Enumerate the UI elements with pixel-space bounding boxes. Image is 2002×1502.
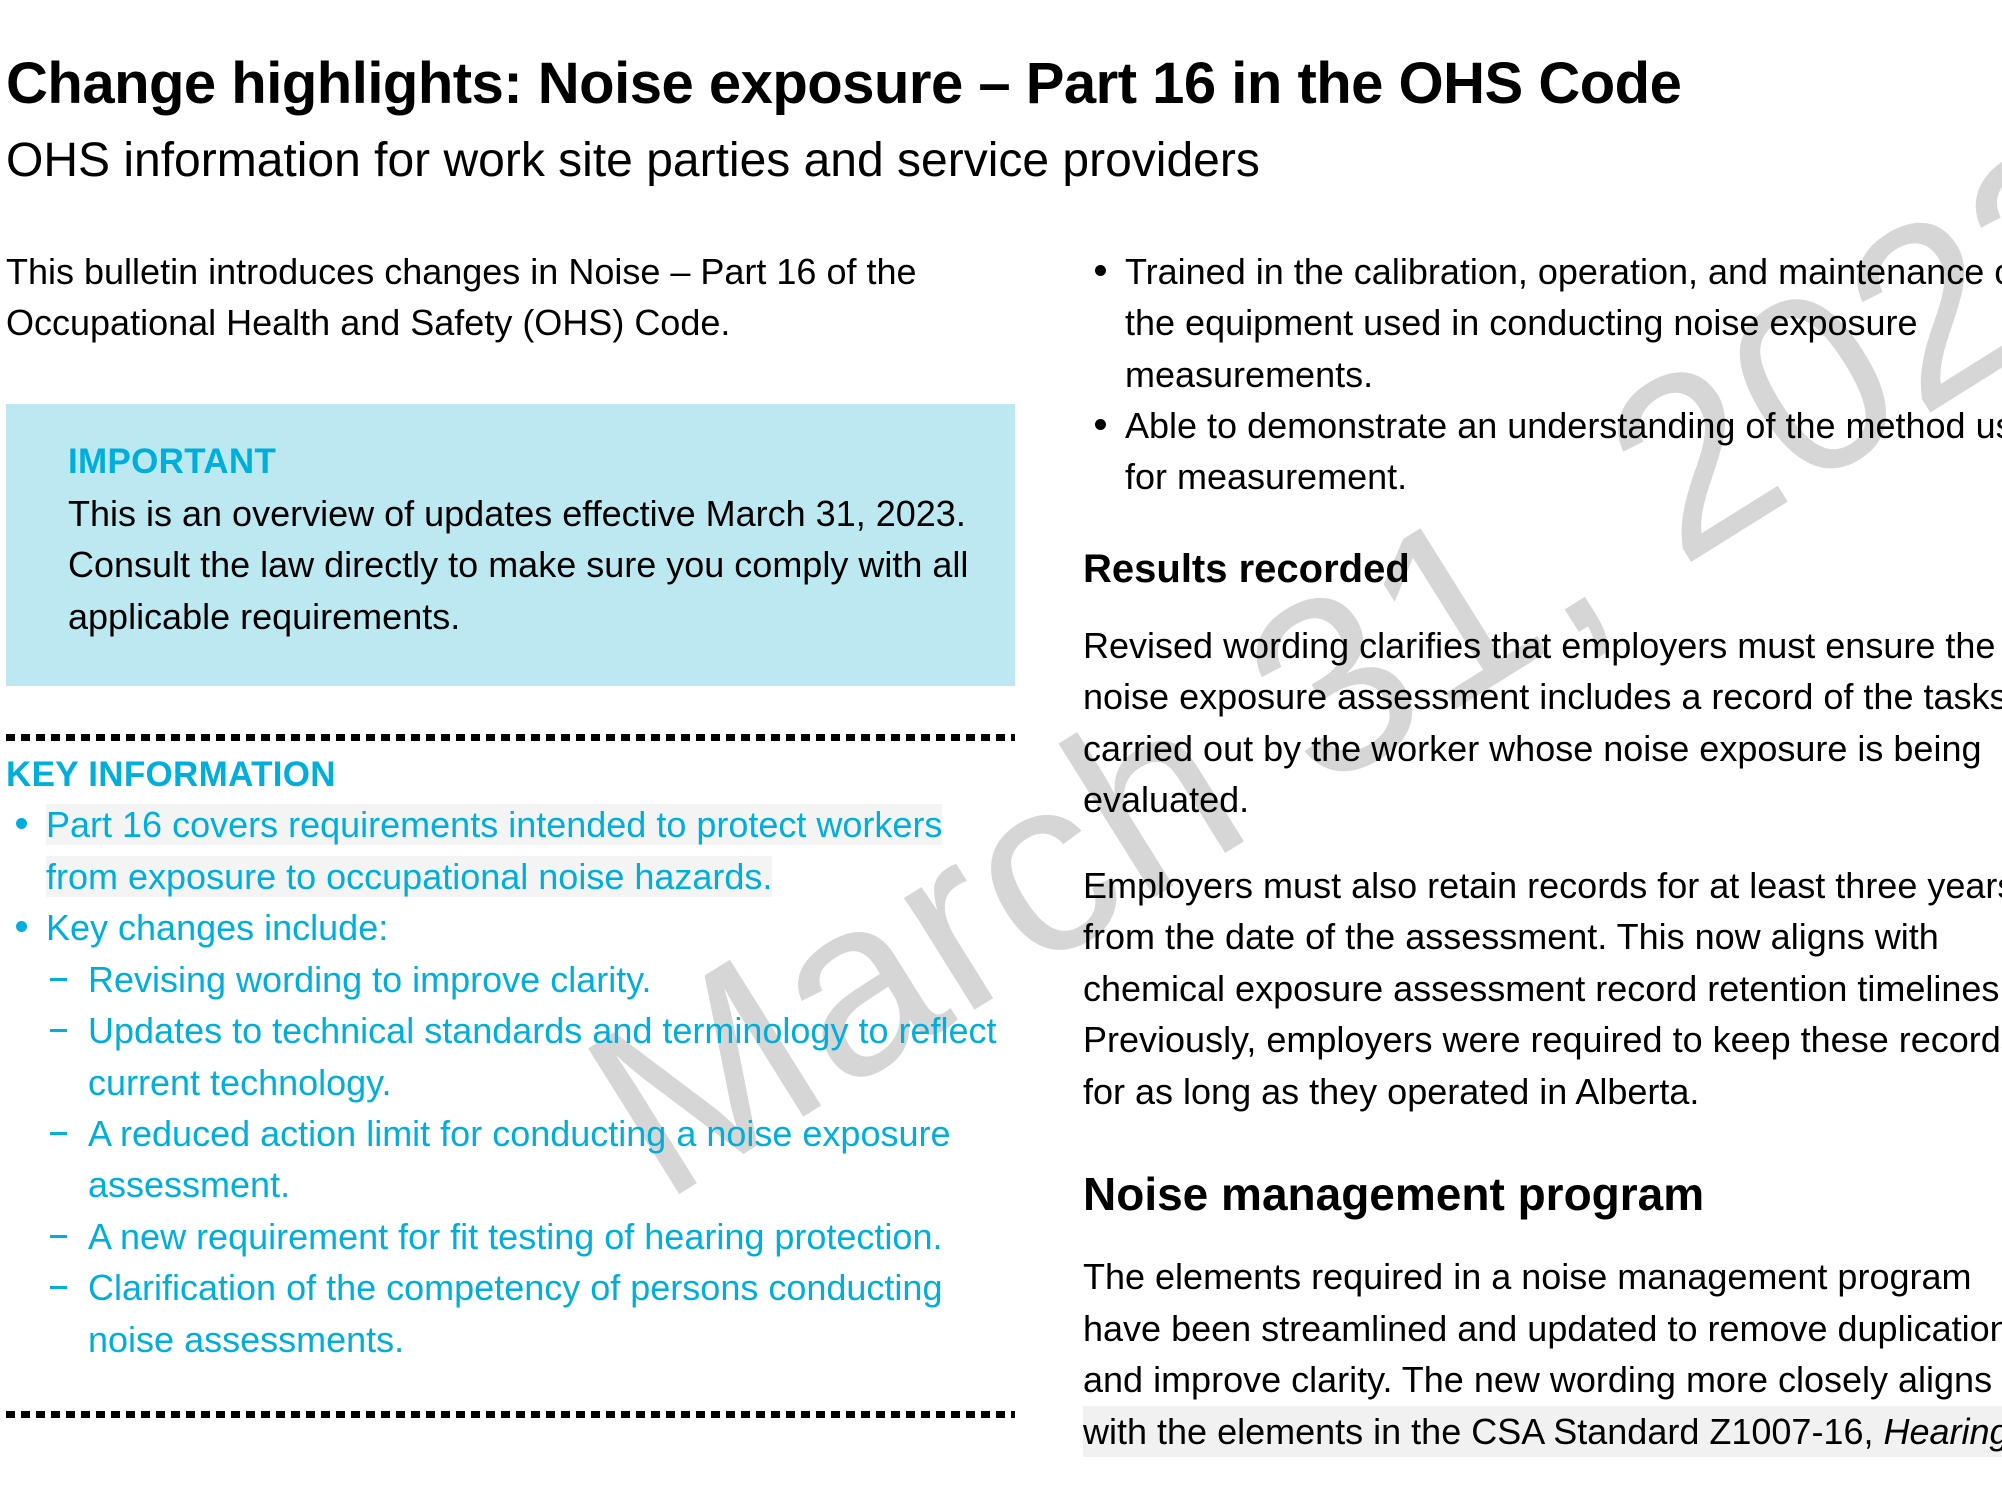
list-item-label: A new requirement for fit testing of hea…	[88, 1216, 942, 1257]
section-heading-noise-management-program: Noise management program	[1083, 1167, 2002, 1221]
paragraph-line: from the date of the assessment. This no…	[1083, 911, 2002, 962]
competency-bullet-list: Trained in the calibration, operation, a…	[1083, 246, 2002, 503]
paragraph-line: evaluated.	[1083, 774, 2002, 825]
list-item-label: Updates to technical standards and termi…	[88, 1010, 997, 1102]
list-item: A new requirement for fit testing of hea…	[6, 1211, 1006, 1262]
dotted-divider-top	[6, 734, 1015, 741]
important-body-text: This is an overview of updates effective…	[68, 488, 969, 642]
dash-bullet-icon	[50, 1286, 67, 1289]
list-item-label: A reduced action limit for conducting a …	[88, 1113, 951, 1205]
list-item: Key changes include:	[6, 902, 1006, 953]
list-item-label: Clarification of the competency of perso…	[88, 1267, 942, 1359]
key-changes-sublist: Revising wording to improve clarity. Upd…	[6, 954, 1006, 1366]
right-column: Trained in the calibration, operation, a…	[1083, 246, 2002, 1491]
paragraph: Revised wording clarifies that employers…	[1083, 620, 2002, 826]
paragraph-line: noise exposure assessment includes a rec…	[1083, 671, 2002, 722]
key-information-list: Part 16 covers requirements intended to …	[6, 799, 1006, 1365]
bullet-dot-icon	[1095, 265, 1106, 276]
document-page: Change highlights: Noise exposure – Part…	[0, 0, 2002, 1502]
paragraph-line: for as long as they operated in Alberta.	[1083, 1066, 2002, 1117]
list-item: Updates to technical standards and termi…	[6, 1005, 1006, 1108]
paragraph-line: have been streamlined and updated to rem…	[1083, 1303, 2002, 1354]
list-item-label: Revising wording to improve clarity.	[88, 959, 652, 1000]
bullet-dot-icon	[1095, 419, 1106, 430]
document-header: Change highlights: Noise exposure – Part…	[0, 0, 2002, 190]
list-item-line: for measurement.	[1125, 451, 2002, 502]
page-title: Change highlights: Noise exposure – Part…	[6, 52, 2002, 117]
list-item-line: Able to demonstrate an understanding of …	[1125, 400, 2002, 451]
dash-bullet-icon	[50, 1029, 67, 1032]
bullet-dot-icon	[16, 818, 27, 829]
list-item: Clarification of the competency of perso…	[6, 1262, 1006, 1365]
list-item: Able to demonstrate an understanding of …	[1083, 400, 2002, 503]
list-item-label: Key changes include:	[46, 907, 388, 948]
important-callout-box: IMPORTANT This is an overview of updates…	[6, 404, 1015, 686]
paragraph-line: Employers must also retain records for a…	[1083, 860, 2002, 911]
page-subtitle: OHS information for work site parties an…	[6, 133, 2002, 190]
paragraph-line: and improve clarity. The new wording mor…	[1083, 1354, 2002, 1405]
paragraph-line: carried out by the worker whose noise ex…	[1083, 723, 2002, 774]
list-item: Trained in the calibration, operation, a…	[1083, 246, 2002, 400]
paragraph-line: The elements required in a noise managem…	[1083, 1251, 2002, 1302]
list-item-label: Part 16 covers requirements intended to …	[46, 804, 942, 896]
dash-bullet-icon	[50, 1132, 67, 1135]
left-column: This bulletin introduces changes in Nois…	[6, 246, 1006, 1419]
bullet-dot-icon	[16, 921, 27, 932]
body-columns: This bulletin introduces changes in Nois…	[0, 246, 2002, 1486]
paragraph: Employers must also retain records for a…	[1083, 860, 2002, 1117]
list-item-line: the equipment used in conducting noise e…	[1125, 297, 2002, 348]
paragraph-line: Previously, employers were required to k…	[1083, 1014, 2002, 1065]
paragraph-line: Revised wording clarifies that employers…	[1083, 620, 2002, 671]
intro-paragraph: This bulletin introduces changes in Nois…	[6, 246, 966, 348]
section-heading-results-recorded: Results recorded	[1083, 547, 2002, 592]
paragraph-text: with the elements in the CSA Standard Z1…	[1083, 1411, 1883, 1452]
dash-bullet-icon	[50, 978, 67, 981]
list-item: Revising wording to improve clarity.	[6, 954, 1006, 1005]
key-information-title: KEY INFORMATION	[6, 755, 1006, 795]
list-item-line: measurements.	[1125, 349, 2002, 400]
dotted-divider-bottom	[6, 1411, 1015, 1418]
paragraph-line: chemical exposure assessment record rete…	[1083, 963, 2002, 1014]
paragraph-line-csa-standard: with the elements in the CSA Standard Z1…	[1083, 1406, 2002, 1457]
paragraph: The elements required in a noise managem…	[1083, 1251, 2002, 1457]
list-item: A reduced action limit for conducting a …	[6, 1108, 1006, 1211]
key-information-section: KEY INFORMATION Part 16 covers requireme…	[6, 741, 1006, 1365]
list-item-line: Trained in the calibration, operation, a…	[1125, 246, 2002, 297]
dash-bullet-icon	[50, 1235, 67, 1238]
standard-title-italic: Hearing	[1883, 1411, 2002, 1452]
list-item: Part 16 covers requirements intended to …	[6, 799, 1006, 902]
important-label: IMPORTANT	[68, 442, 969, 482]
